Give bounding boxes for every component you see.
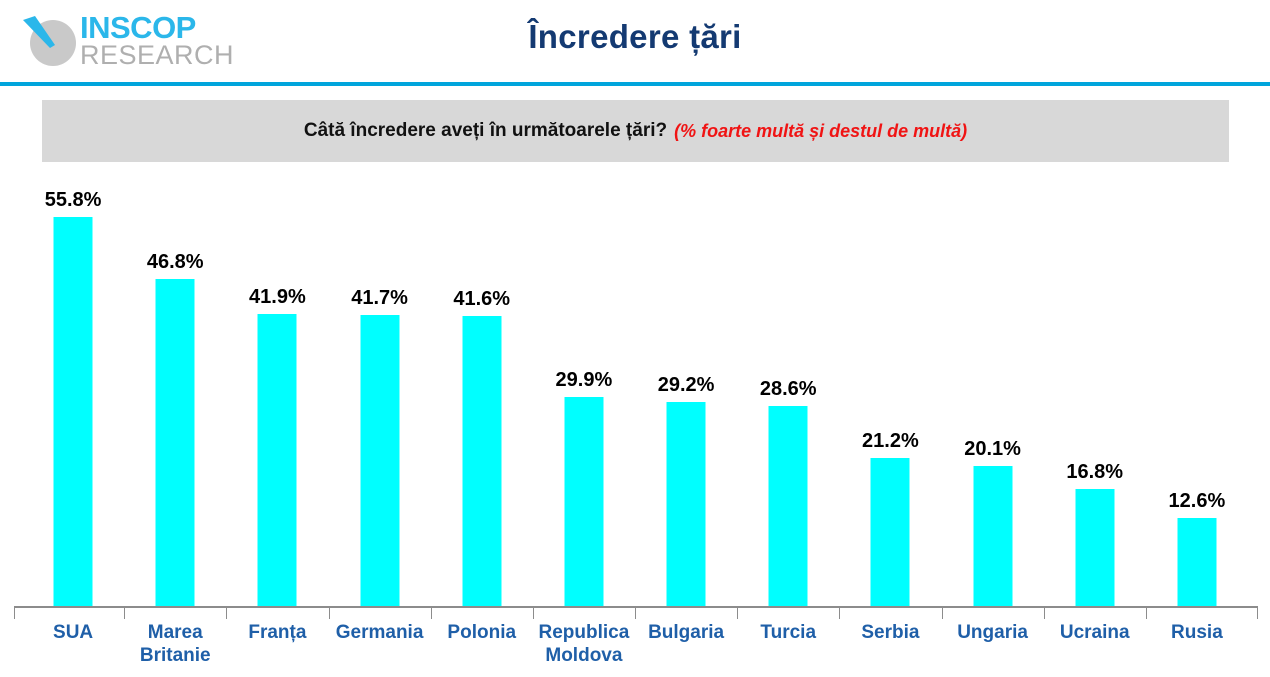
category-label: Serbia bbox=[839, 621, 941, 644]
bar-group: 29.9% bbox=[533, 162, 635, 606]
x-axis-tick bbox=[635, 608, 636, 619]
category-label: Bulgaria bbox=[635, 621, 737, 644]
bar[interactable] bbox=[973, 466, 1012, 606]
x-axis-tick bbox=[533, 608, 534, 619]
bar-value-label: 41.9% bbox=[249, 286, 306, 309]
x-axis-tick bbox=[1257, 608, 1258, 619]
x-axis-tick bbox=[329, 608, 330, 619]
bar-value-label: 21.2% bbox=[862, 430, 919, 453]
bar[interactable] bbox=[769, 406, 808, 606]
bar[interactable] bbox=[1075, 489, 1114, 606]
bar-chart: 55.8%46.8%41.9%41.7%41.6%29.9%29.2%28.6%… bbox=[0, 162, 1270, 677]
bar-group: 41.7% bbox=[329, 162, 431, 606]
bar[interactable] bbox=[667, 402, 706, 606]
category-label: Turcia bbox=[737, 621, 839, 644]
bar-group: 55.8% bbox=[22, 162, 124, 606]
x-axis-tick bbox=[124, 608, 125, 619]
category-label: Polonia bbox=[431, 621, 533, 644]
bar-group: 12.6% bbox=[1146, 162, 1248, 606]
bar[interactable] bbox=[54, 217, 93, 606]
bar[interactable] bbox=[462, 316, 501, 606]
category-label: Republica Moldova bbox=[533, 621, 635, 667]
bar-value-label: 20.1% bbox=[964, 438, 1021, 461]
x-axis-tick bbox=[1044, 608, 1045, 619]
bar-value-label: 28.6% bbox=[760, 378, 817, 401]
bar-group: 21.2% bbox=[839, 162, 941, 606]
bar[interactable] bbox=[564, 397, 603, 606]
bar[interactable] bbox=[258, 314, 297, 606]
bar-group: 28.6% bbox=[737, 162, 839, 606]
x-axis-tick bbox=[431, 608, 432, 619]
page-title: Încredere țări bbox=[0, 18, 1270, 56]
category-label: Rusia bbox=[1146, 621, 1248, 644]
header-divider bbox=[0, 82, 1270, 86]
bar-value-label: 41.7% bbox=[351, 287, 408, 310]
bar-value-label: 12.6% bbox=[1169, 490, 1226, 513]
category-label: Marea Britanie bbox=[124, 621, 226, 667]
page-header: INSCOP RESEARCH Încredere țări bbox=[0, 0, 1270, 82]
category-label: Ucraina bbox=[1044, 621, 1146, 644]
category-label: SUA bbox=[22, 621, 124, 644]
x-axis-tick bbox=[1146, 608, 1147, 619]
question-note: (% foarte multă și destul de multă) bbox=[674, 121, 967, 142]
category-label: Franța bbox=[226, 621, 328, 644]
bar-group: 46.8% bbox=[124, 162, 226, 606]
x-axis-tick bbox=[14, 608, 15, 619]
question-text: Câtă încredere aveți în următoarele țări… bbox=[304, 120, 667, 142]
bar[interactable] bbox=[871, 458, 910, 606]
category-label: Ungaria bbox=[942, 621, 1044, 644]
bar[interactable] bbox=[360, 315, 399, 606]
bar-group: 41.9% bbox=[226, 162, 328, 606]
bar-value-label: 29.9% bbox=[556, 369, 613, 392]
bar-group: 41.6% bbox=[431, 162, 533, 606]
x-axis-tick bbox=[226, 608, 227, 619]
x-axis-tick bbox=[737, 608, 738, 619]
question-band: Câtă încredere aveți în următoarele țări… bbox=[42, 100, 1229, 162]
bar[interactable] bbox=[1177, 518, 1216, 606]
bar-value-label: 29.2% bbox=[658, 374, 715, 397]
bar-group: 29.2% bbox=[635, 162, 737, 606]
x-axis-tick bbox=[942, 608, 943, 619]
bar-value-label: 46.8% bbox=[147, 251, 204, 274]
bar-value-label: 16.8% bbox=[1066, 461, 1123, 484]
x-axis-line bbox=[14, 606, 1258, 608]
bar-group: 20.1% bbox=[942, 162, 1044, 606]
bar[interactable] bbox=[156, 279, 195, 606]
bar-value-label: 41.6% bbox=[453, 288, 510, 311]
x-axis-tick bbox=[839, 608, 840, 619]
plot-area: 55.8%46.8%41.9%41.7%41.6%29.9%29.2%28.6%… bbox=[22, 162, 1248, 606]
category-label: Germania bbox=[329, 621, 431, 644]
bar-group: 16.8% bbox=[1044, 162, 1146, 606]
bar-value-label: 55.8% bbox=[45, 189, 102, 212]
